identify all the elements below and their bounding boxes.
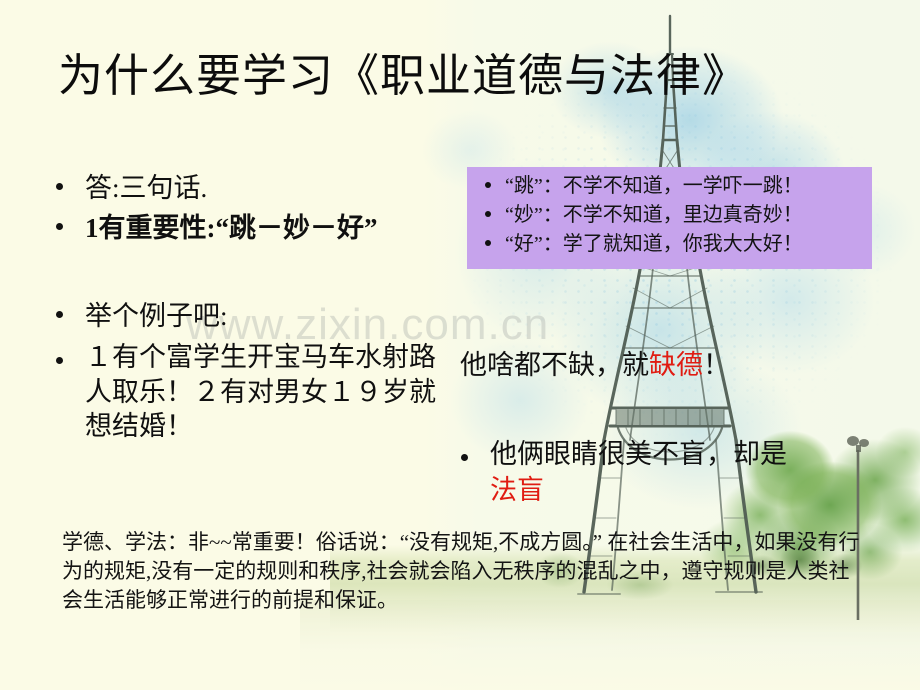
bullet-importance-text: 1有重要性:“跳－妙－好” <box>85 206 378 245</box>
bullet-dot-icon <box>461 454 468 461</box>
bullet-dot-icon <box>485 182 491 188</box>
footer-paragraph: 学德、学法：非~~常重要！俗话说：“没有规矩,不成方圆。” 在社会生活中，如果没… <box>62 528 862 615</box>
right-bullet-black-text: 他俩眼睛很美不盲，却是 <box>490 439 787 469</box>
right-bullet-content: 他俩眼睛很美不盲，却是法盲 <box>490 437 787 508</box>
bullet-dot-icon <box>56 223 63 230</box>
callout-item: “妙”：不学不知道，里边真奇妙！ <box>467 205 866 225</box>
callout-box: “跳”：不学不知道，一学吓一跳！ “妙”：不学不知道，里边真奇妙！ “好”：学了… <box>467 167 872 269</box>
right-line-lacks-virtue: 他啥都不缺，就缺德！ <box>460 343 730 382</box>
callout-item: “好”：学了就知道，你我大大好！ <box>467 234 866 254</box>
callout-item-text: “妙”：不学不知道，里边真奇妙！ <box>505 205 803 225</box>
bullet-dot-icon <box>485 211 491 217</box>
bullet-dot-icon <box>56 183 63 190</box>
slide-canvas: www.zixin.com.cn 为什么要学习《职业道德与法律》 答:三句话. … <box>0 0 920 690</box>
slide-title: 为什么要学习《职业道德与法律》 <box>58 52 748 102</box>
right-bullet-law-blind: 他俩眼睛很美不盲，却是法盲 <box>461 437 881 508</box>
right-line-tail: ！ <box>703 350 730 380</box>
callout-item: “跳”：不学不知道，一学吓一跳！ <box>467 176 866 196</box>
bullet-examples: １有个富学生开宝马车水射路人取乐！２有对男女１９岁就想结婚！ <box>56 340 456 444</box>
bullet-examples-text: １有个富学生开宝马车水射路人取乐！２有对男女１９岁就想结婚！ <box>85 340 456 444</box>
bullet-dot-icon <box>485 240 491 246</box>
bullet-example-intro: 举个例子吧: <box>56 294 228 333</box>
bullet-dot-icon <box>56 311 63 318</box>
callout-item-text: “跳”：不学不知道，一学吓一跳！ <box>505 176 803 196</box>
bullet-dot-icon <box>56 357 63 364</box>
right-line-red-text: 缺德 <box>649 350 703 380</box>
right-line-black-text: 他啥都不缺，就 <box>460 350 649 380</box>
bullet-example-intro-text: 举个例子吧: <box>85 294 228 333</box>
bullet-importance: 1有重要性:“跳－妙－好” <box>56 206 378 245</box>
bullet-answer-text: 答:三句话. <box>85 166 207 205</box>
bullet-answer: 答:三句话. <box>56 166 207 205</box>
callout-item-text: “好”：学了就知道，你我大大好！ <box>505 234 803 254</box>
right-bullet-red-text: 法盲 <box>490 475 544 505</box>
